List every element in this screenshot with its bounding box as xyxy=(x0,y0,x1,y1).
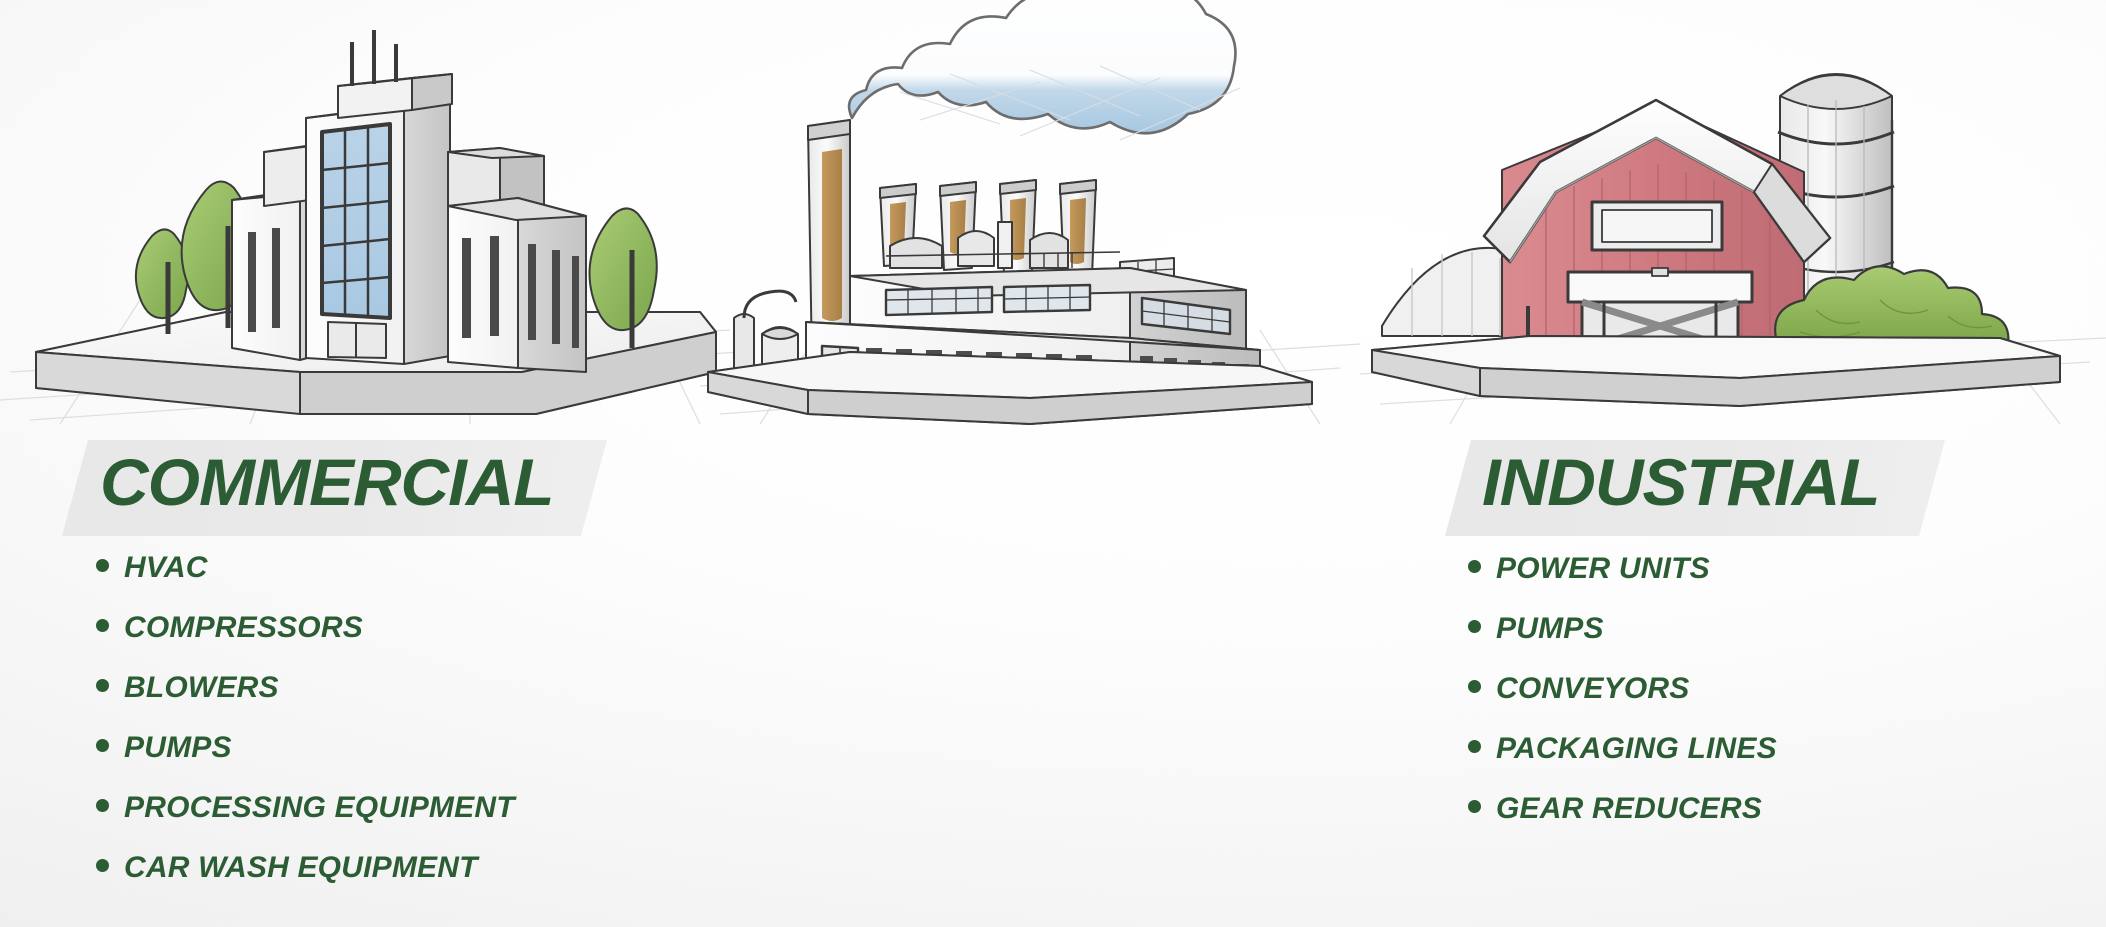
list-item[interactable]: PROCESSING EQUIPMENT xyxy=(96,785,515,830)
commercial-building-sketch xyxy=(0,0,740,430)
barn-and-silo-sketch xyxy=(1360,0,2106,430)
list-item-label: BLOWERS xyxy=(124,665,279,710)
rooftop-antennas xyxy=(352,30,396,86)
column-commercial: COMMERCIAL HVAC COMPRESSORS BLOWERS PUMP… xyxy=(0,0,740,927)
list-commercial: HVAC COMPRESSORS BLOWERS PUMPS PROCESSIN… xyxy=(96,545,515,905)
bullet-dot xyxy=(96,619,109,632)
list-item-label: PROCESSING EQUIPMENT xyxy=(124,785,515,830)
list-item[interactable]: CAR WASH EQUIPMENT xyxy=(96,845,515,890)
column-agriculture: AGRICULTURE VENTILATION AND FANS AUGER D… xyxy=(1360,0,2106,927)
tree-left-small xyxy=(136,229,188,334)
list-item-label: PUMPS xyxy=(124,725,232,770)
industrial-illustration xyxy=(700,0,1360,430)
hay-loft-window xyxy=(1592,202,1722,250)
agriculture-illustration xyxy=(1360,0,2106,430)
bullet-dot xyxy=(96,799,109,812)
list-item[interactable]: PUMPS xyxy=(96,725,515,770)
list-item[interactable]: HVAC xyxy=(96,545,515,590)
bullet-dot xyxy=(96,739,109,752)
smoke-cloud xyxy=(849,0,1240,140)
bullet-dot xyxy=(96,859,109,872)
list-item[interactable]: COMPRESSORS xyxy=(96,605,515,650)
list-item[interactable]: BLOWERS xyxy=(96,665,515,710)
bullet-dot xyxy=(96,679,109,692)
page-title-commercial: COMMERCIAL xyxy=(100,449,554,515)
concrete-plinth xyxy=(1372,336,2060,406)
list-item-label: COMPRESSORS xyxy=(124,605,363,650)
column-industrial: INDUSTRIAL POWER UNITS PUMPS CONVEYORS P… xyxy=(700,0,1360,927)
list-item-label: HVAC xyxy=(124,545,208,590)
commercial-illustration xyxy=(0,0,740,430)
factory-plant-sketch xyxy=(700,0,1360,430)
glass-curtain-wall xyxy=(322,124,390,318)
segments-board: COMMERCIAL HVAC COMPRESSORS BLOWERS PUMP… xyxy=(0,0,2106,927)
bullet-dot xyxy=(96,559,109,572)
list-item-label: CAR WASH EQUIPMENT xyxy=(124,845,478,890)
building-right-wing xyxy=(448,198,586,372)
building-entrance xyxy=(328,322,386,358)
